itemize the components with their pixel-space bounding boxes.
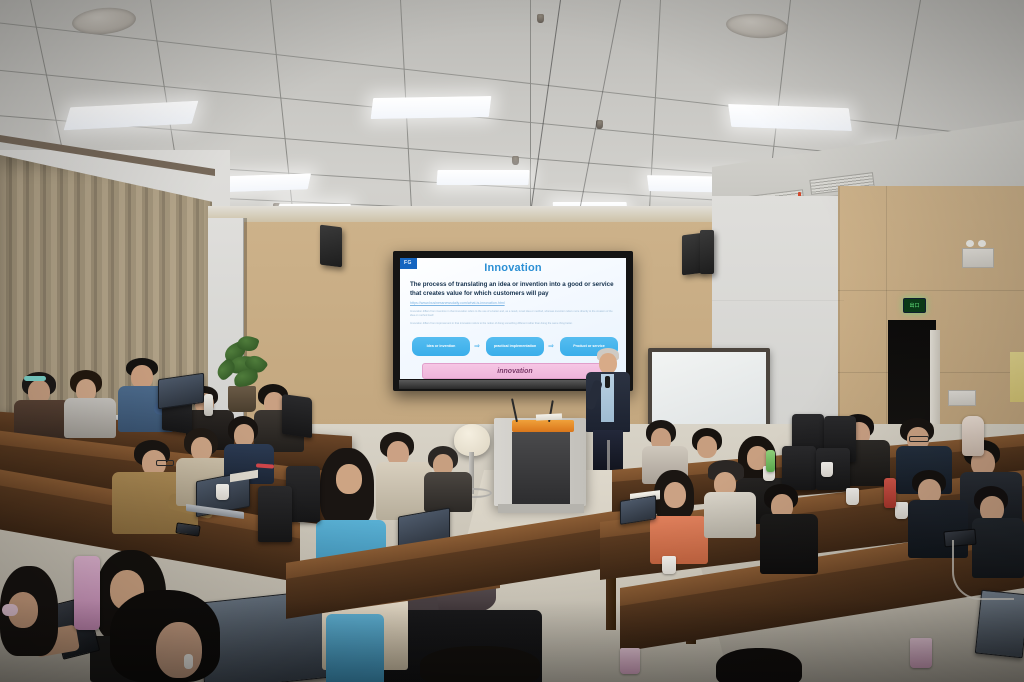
ceiling-light: [728, 104, 852, 131]
flow-arrow-icon: ⇒: [548, 343, 554, 350]
glasses-icon: [156, 460, 174, 466]
lectern-front-panel: [512, 432, 570, 504]
exit-sign: 出口: [903, 298, 926, 313]
chair: [782, 446, 816, 490]
chair: [282, 394, 312, 438]
blue-jacket: [326, 614, 384, 682]
slide-fineprint-2: Innovation differs from improvement in t…: [410, 322, 614, 326]
ceiling-light: [64, 101, 199, 131]
earbud-icon: [184, 654, 193, 669]
wall-sensor-icon: [966, 240, 974, 247]
charging-cable: [952, 540, 1014, 600]
flow-box-implementation: practical implementation: [486, 337, 544, 356]
flow-box-idea: Idea or invention: [412, 337, 470, 356]
wall-sensor-icon: [978, 240, 986, 247]
ceiling-light: [436, 170, 529, 185]
front-wall-upper-strip: [208, 206, 713, 222]
thermos-bottle: [962, 416, 984, 456]
ceiling-light: [371, 96, 492, 119]
paper-cup: [846, 488, 859, 505]
thermos-bottle: [74, 556, 100, 630]
paper-cup: [620, 648, 640, 674]
thermos-bottle: [884, 478, 896, 508]
sprinkler-icon: [512, 156, 519, 165]
lecture-room-photo: 出口 FG Innovation The process of translat…: [0, 0, 1024, 682]
hair-clip: [2, 604, 18, 616]
headband: [24, 376, 46, 381]
wall-control-panel[interactable]: [962, 248, 994, 268]
ceiling-speaker-icon: [71, 5, 137, 36]
presenter-leg-gap: [607, 440, 610, 470]
wall-speaker: [320, 225, 342, 268]
slide-body-text: The process of translating an idea or in…: [410, 280, 616, 299]
paper-cup: [895, 502, 908, 519]
whiteboard-surface: [652, 352, 766, 426]
slide-title: Innovation: [400, 262, 626, 274]
exit-sign-label: 出口: [909, 302, 919, 309]
coffee-cup: [216, 484, 229, 500]
wall-socket[interactable]: [948, 390, 976, 406]
wall-speaker: [700, 230, 714, 274]
paper-cup: [821, 462, 833, 477]
paper-cup: [910, 638, 932, 668]
plant-pot: [228, 386, 256, 412]
wall-notice: [1010, 352, 1024, 402]
slide-fineprint-1: Innovation differs from invention in tha…: [410, 310, 614, 318]
chair: [258, 486, 292, 542]
slide-source-link[interactable]: https://www.businessnewsdaily.com/what-i…: [410, 301, 505, 305]
flow-arrow-icon: ⇒: [474, 343, 480, 350]
water-bottle: [204, 394, 213, 416]
ceiling-speaker-icon: [725, 12, 789, 40]
lectern-top-band: [512, 420, 574, 432]
paper-cup: [662, 556, 676, 574]
lectern-base: [498, 504, 584, 513]
glasses-icon: [909, 436, 929, 442]
sprinkler-icon: [537, 14, 544, 23]
presenter: [580, 348, 636, 468]
water-bottle: [766, 450, 775, 472]
